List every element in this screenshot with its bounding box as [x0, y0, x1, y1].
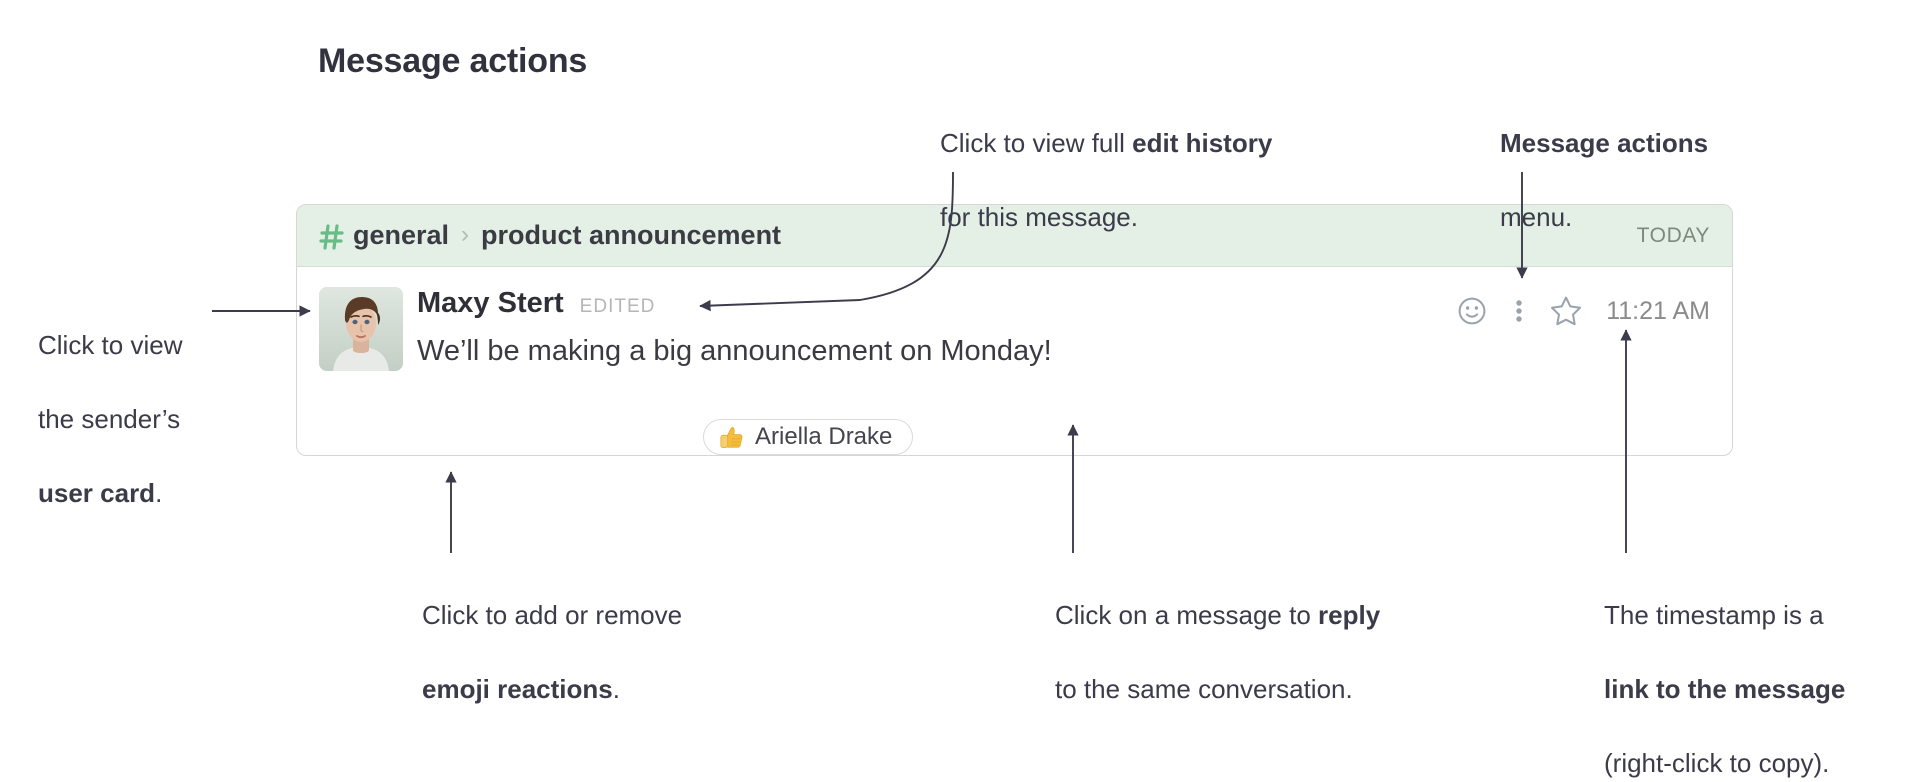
- annotation-actions-menu: Message actions menu.: [1500, 88, 1708, 236]
- annotation-user-card-line2: the sender’s: [38, 404, 180, 434]
- message-actions-group: 11:21 AM: [1436, 293, 1710, 329]
- annotation-edit-history: Click to view full edit history for this…: [940, 88, 1272, 236]
- edited-badge[interactable]: EDITED: [580, 296, 656, 318]
- annotation-actions-menu-line1: Message actions: [1500, 128, 1708, 158]
- annotation-user-card-line3: user card: [38, 478, 155, 508]
- annotation-user-card: Click to view the sender’s user card.: [38, 290, 182, 512]
- annotation-timestamp-line1: The timestamp is a: [1604, 600, 1824, 630]
- message-timestamp-link[interactable]: 11:21 AM: [1606, 297, 1710, 326]
- sender-name[interactable]: Maxy Stert: [417, 287, 564, 320]
- reaction-pill[interactable]: Ariella Drake: [703, 419, 913, 455]
- message-row[interactable]: Maxy Stert EDITED We’ll be making a big …: [297, 267, 1732, 455]
- page-title: Message actions: [318, 42, 587, 81]
- annotation-timestamp-link: The timestamp is a link to the message (…: [1604, 560, 1845, 782]
- annotation-reply: Click on a message to reply to the same …: [1055, 560, 1380, 708]
- annotation-emoji-reactions: Click to add or remove emoji reactions.: [422, 560, 682, 708]
- annotation-edit-history-line2: for this message.: [940, 202, 1138, 232]
- message-text[interactable]: We’ll be making a big announcement on Mo…: [417, 335, 1710, 368]
- message-card: general › product announcement TODAY: [296, 204, 1733, 456]
- hash-icon: [319, 223, 345, 251]
- avatar[interactable]: [319, 287, 403, 371]
- breadcrumb-topic[interactable]: product announcement: [481, 220, 781, 251]
- star-message-icon[interactable]: [1548, 293, 1584, 329]
- thumbs-up-emoji: [718, 424, 745, 451]
- add-reaction-icon[interactable]: [1454, 293, 1490, 329]
- annotation-user-card-line1: Click to view: [38, 330, 182, 360]
- annotation-timestamp-line3: (right-click to copy).: [1604, 748, 1829, 778]
- annotation-reply-line2: to the same conversation.: [1055, 674, 1353, 704]
- annotation-emoji-line1: Click to add or remove: [422, 600, 682, 630]
- breadcrumb-stream[interactable]: general: [353, 220, 449, 251]
- message-actions-kebab-icon[interactable]: [1508, 293, 1530, 329]
- breadcrumb-separator-icon: ›: [461, 221, 469, 249]
- annotation-edit-history-line1: Click to view full edit history: [940, 128, 1272, 158]
- annotation-reply-line1: Click on a message to reply: [1055, 600, 1380, 630]
- annotation-timestamp-line2: link to the message: [1604, 674, 1845, 704]
- annotation-emoji-line2: emoji reactions: [422, 674, 613, 704]
- annotation-actions-menu-line2: menu.: [1500, 202, 1572, 232]
- reaction-row: Ariella Drake: [703, 419, 913, 456]
- reaction-user-name: Ariella Drake: [755, 423, 892, 451]
